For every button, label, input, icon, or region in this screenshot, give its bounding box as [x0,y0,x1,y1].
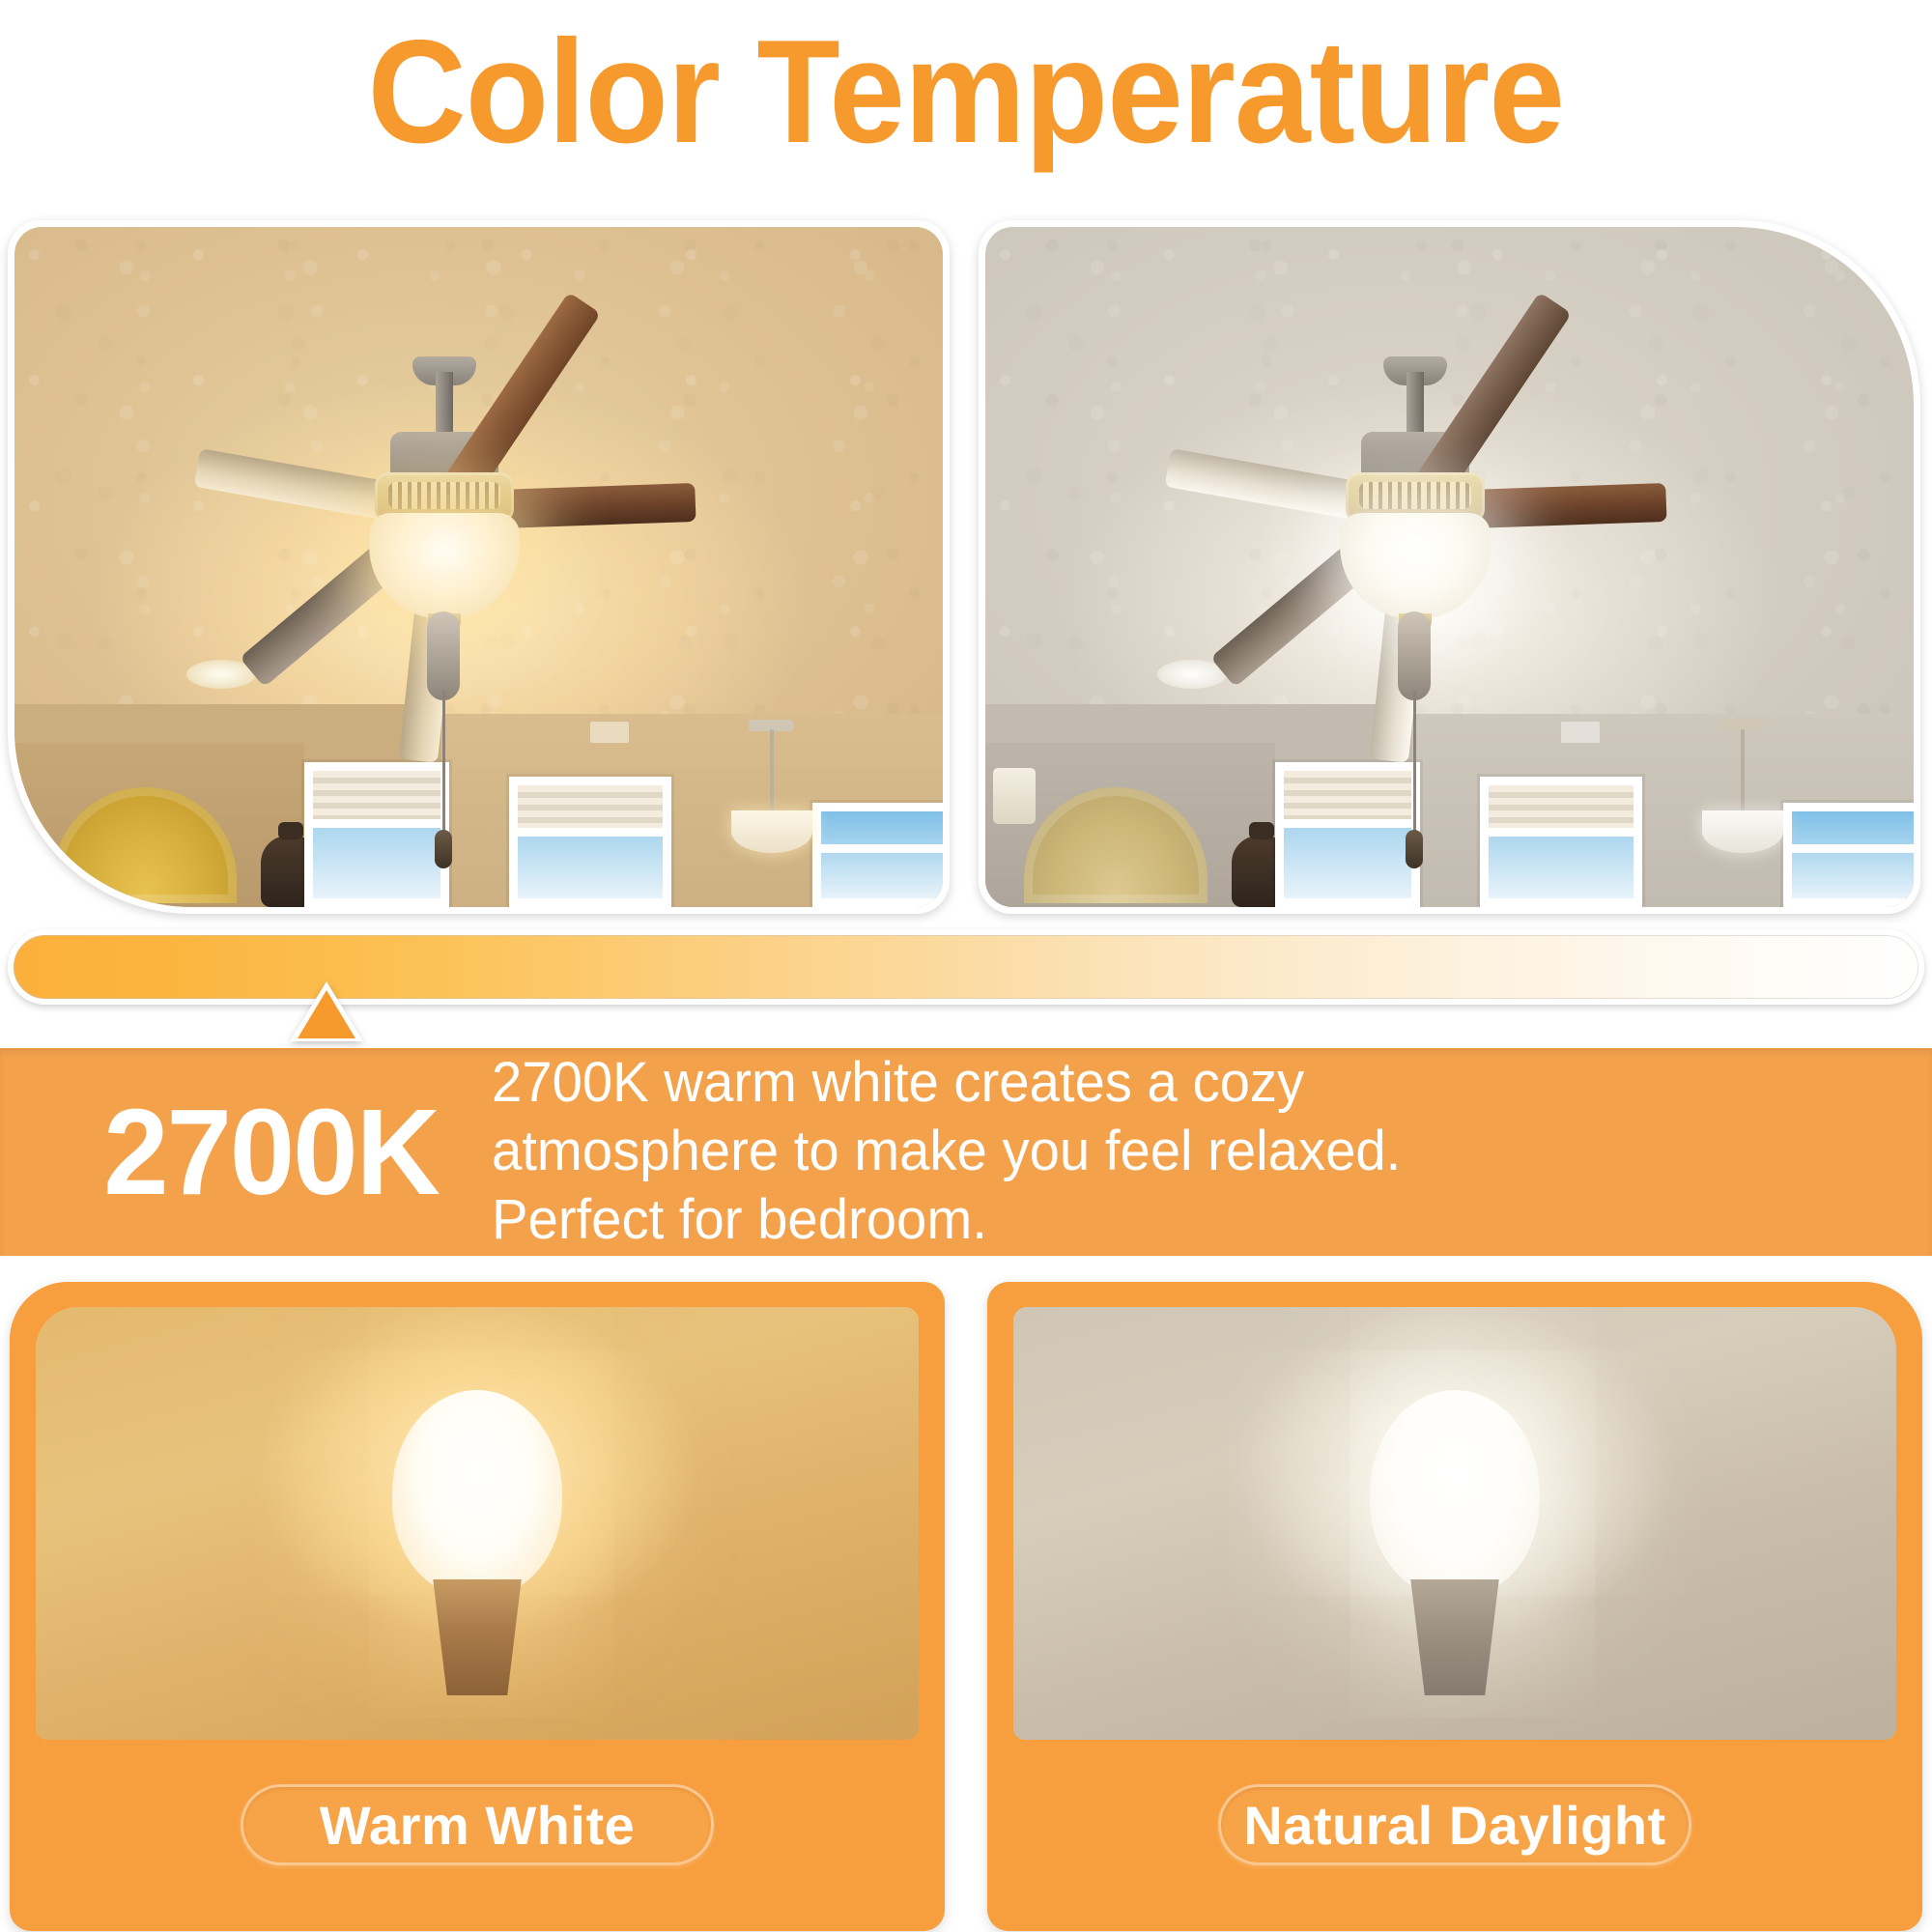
window-sash [1489,828,1634,837]
bulb-scene-warm [36,1307,919,1740]
window-left [1275,762,1420,907]
page-title: Color Temperature [368,18,1564,165]
bulb-globe [392,1390,562,1597]
room-scene-warm [14,227,943,907]
kelvin-info-band: 2700K 2700K warm white creates a cozy at… [0,1048,1932,1256]
fan-pull-chain [1413,691,1416,845]
ceiling-vent [1561,722,1600,743]
bulb-card-label: Warm White [320,1794,635,1857]
ceiling-fan-warm [184,372,705,691]
fan-pull-knob [1398,611,1431,700]
light-bulb-icon [1370,1390,1540,1632]
window-blind-icon [313,771,440,822]
ceiling-fan-cool [1154,372,1676,691]
decor-candle [993,768,1036,824]
fan-light-globe-icon [1340,513,1491,619]
comparison-photo-warm [8,220,950,914]
label-pill-warm-white: Warm White [241,1784,714,1865]
photo-frame-cool [985,227,1914,907]
pendant-rod [770,729,774,812]
window-blind-icon [1489,785,1634,831]
window-right [812,803,943,907]
bulb-photo-warm [36,1307,919,1740]
bulb-card-natural-daylight: Natural Daylight [987,1282,1922,1931]
fan-pull-knob [435,830,452,868]
window-sash [518,828,663,837]
bulb-neck [1405,1579,1505,1695]
bulb-photo-cool [1013,1307,1896,1740]
window-center [1480,777,1642,907]
window-right [1783,803,1914,907]
pendant-rod [1741,729,1745,812]
page-header: Color Temperature [0,0,1932,184]
kelvin-description: 2700K warm white creates a cozy atmosphe… [492,1049,1522,1254]
pendant-light-icon [1702,810,1783,853]
color-temperature-slider[interactable] [0,925,1932,1041]
label-pill-natural-daylight: Natural Daylight [1218,1784,1691,1865]
bulb-card-label: Natural Daylight [1243,1794,1665,1857]
window-blind-icon [518,785,663,831]
window-sash [821,844,943,853]
ceiling-vent [590,722,629,743]
light-bulb-icon [392,1390,562,1632]
fan-pull-knob [427,611,460,700]
window-blind-icon [1284,771,1411,822]
window-center [509,777,671,907]
window-sash [1792,844,1914,853]
fan-light-globe-icon [369,513,520,619]
window-sash [1284,819,1411,828]
fan-pull-knob [1406,830,1423,868]
photo-frame-warm [14,227,943,907]
room-scene-cool [985,227,1914,907]
comparison-photo-cool [979,220,1920,914]
fan-pull-chain [442,691,445,845]
kelvin-value: 2700K [103,1092,439,1213]
window-sash [313,819,440,828]
bulb-scene-cool [1013,1307,1896,1740]
pendant-light-icon [731,810,812,853]
window-left [304,762,449,907]
bulb-neck [427,1579,527,1695]
bulb-globe [1370,1390,1540,1597]
bulb-card-warm-white: Warm White [10,1282,945,1931]
slider-marker-triangle-icon[interactable] [290,981,363,1041]
